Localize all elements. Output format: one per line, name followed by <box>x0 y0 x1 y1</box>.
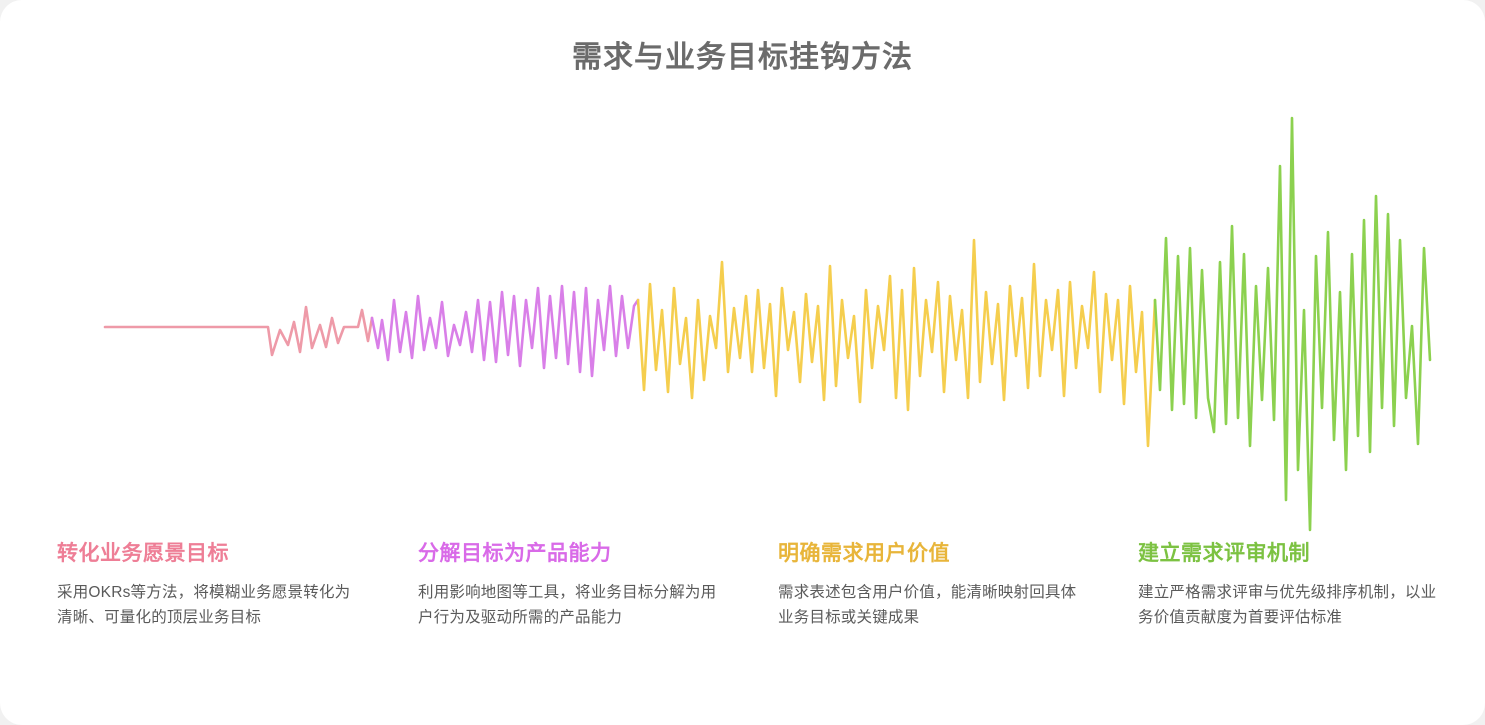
slide-canvas: 需求与业务目标挂钩方法 转化业务愿景目标 采用OKRs等方法，将模糊业务愿景转化… <box>0 0 1485 725</box>
column-1: 转化业务愿景目标 采用OKRs等方法，将模糊业务愿景转化为清晰、可量化的顶层业务… <box>0 540 365 700</box>
waveform-segment-1 <box>105 307 372 355</box>
waveform-segment-3 <box>638 240 1155 446</box>
columns-row: 转化业务愿景目标 采用OKRs等方法，将模糊业务愿景转化为清晰、可量化的顶层业务… <box>0 540 1485 700</box>
column-3-body: 需求表述包含用户价值，能清晰映射回具体业务目标或关键成果 <box>778 581 1078 630</box>
column-2-heading: 分解目标为产品能力 <box>418 540 730 567</box>
column-2: 分解目标为产品能力 利用影响地图等工具，将业务目标分解为用户行为及驱动所需的产品… <box>365 540 730 700</box>
column-3-heading: 明确需求用户价值 <box>778 540 1095 567</box>
column-2-body: 利用影响地图等工具，将业务目标分解为用户行为及驱动所需的产品能力 <box>418 581 718 630</box>
column-1-body: 采用OKRs等方法，将模糊业务愿景转化为清晰、可量化的顶层业务目标 <box>57 581 357 630</box>
waveform-segment-4 <box>1155 118 1430 530</box>
column-3: 明确需求用户价值 需求表述包含用户价值，能清晰映射回具体业务目标或关键成果 <box>730 540 1095 700</box>
column-1-heading: 转化业务愿景目标 <box>57 540 365 567</box>
waveform-segment-2 <box>372 286 638 376</box>
column-4-body: 建立严格需求评审与优先级排序机制，以业务价值贡献度为首要评估标准 <box>1138 581 1438 630</box>
waveform-svg <box>0 95 1485 535</box>
page-title: 需求与业务目标挂钩方法 <box>0 40 1485 76</box>
column-4-heading: 建立需求评审机制 <box>1138 540 1460 567</box>
column-4: 建立需求评审机制 建立严格需求评审与优先级排序机制，以业务价值贡献度为首要评估标… <box>1095 540 1460 700</box>
waveform-chart <box>0 95 1485 535</box>
